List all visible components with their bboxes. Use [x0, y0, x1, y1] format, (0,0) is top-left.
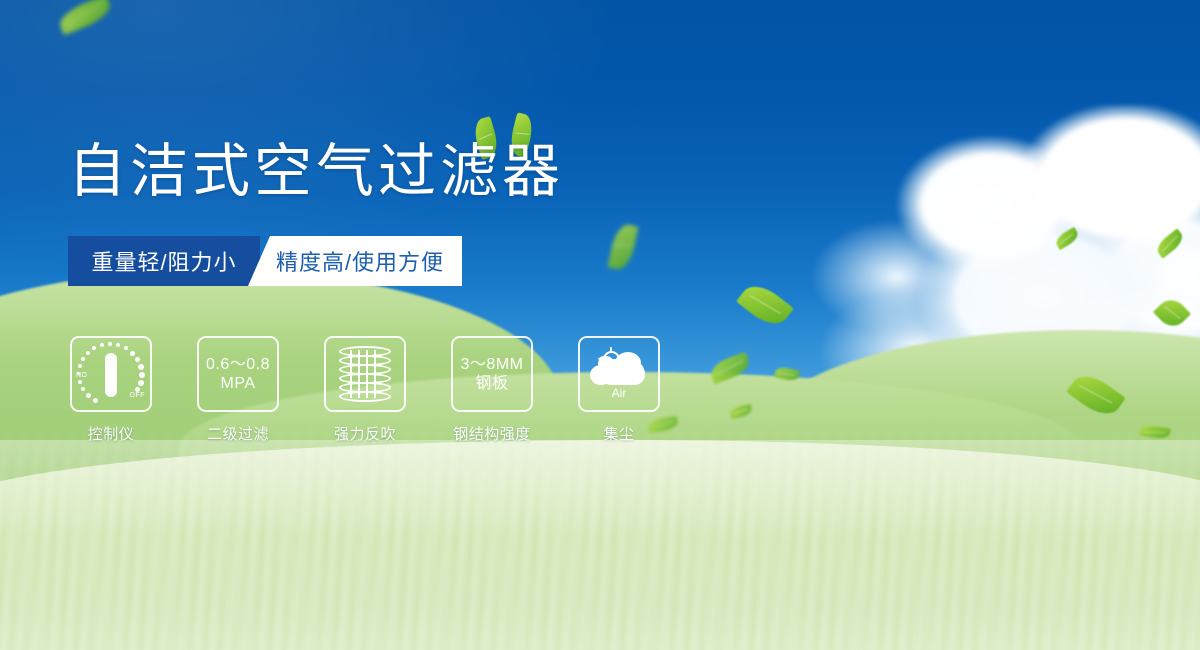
feature-list: NO OFF 控制仪 0.6～0.8 MPA 二级过滤	[68, 336, 662, 444]
feature-icon-box	[324, 336, 406, 412]
feature-text-line-2: MPA	[206, 374, 270, 393]
gauge-label-no: NO	[76, 372, 88, 379]
feature-text-line-1: 3～8MM	[461, 355, 524, 374]
feature-item-steel[interactable]: 3～8MM 钢板 钢结构强度	[449, 336, 535, 444]
feature-label: 集尘	[603, 423, 634, 444]
subtitle-left-segment: 重量轻/阻力小	[68, 236, 260, 286]
feature-icon-box: Air	[578, 336, 660, 412]
grass-haze	[0, 440, 1200, 650]
cloud-icon-text: Air	[589, 386, 649, 400]
feature-item-dust[interactable]: Air 集尘	[576, 336, 662, 444]
feature-icon-box: 3～8MM 钢板	[451, 336, 533, 412]
feature-text-line-2: 钢板	[461, 374, 524, 393]
cloud-icon: Air	[589, 351, 649, 397]
gauge-needle	[105, 353, 117, 397]
feature-label: 钢结构强度	[453, 423, 531, 444]
feature-item-blowback[interactable]: 强力反吹	[322, 336, 408, 444]
subtitle-bar: 重量轻/阻力小 精度高/使用方便	[68, 236, 462, 286]
product-banner: 自洁式空气过滤器 重量轻/阻力小 精度高/使用方便	[0, 0, 1200, 650]
feature-icon-box: 0.6～0.8 MPA	[197, 336, 279, 412]
feature-label: 强力反吹	[334, 423, 396, 444]
feature-item-controller[interactable]: NO OFF 控制仪	[68, 336, 154, 444]
gauge-label-off: OFF	[130, 392, 146, 399]
subtitle-right-segment: 精度高/使用方便	[248, 236, 462, 286]
feature-icon-text: 3～8MM 钢板	[461, 355, 524, 393]
feature-item-filter[interactable]: 0.6～0.8 MPA 二级过滤	[195, 336, 281, 444]
feature-icon-box: NO OFF	[70, 336, 152, 412]
subtitle-right-text: 精度高/使用方便	[266, 245, 444, 277]
feature-label: 二级过滤	[207, 423, 269, 444]
feature-icon-text: 0.6～0.8 MPA	[206, 355, 270, 393]
feature-label: 控制仪	[88, 423, 135, 444]
feature-text-line-1: 0.6～0.8	[206, 355, 270, 374]
page-title: 自洁式空气过滤器	[68, 143, 564, 201]
subtitle-left-text: 重量轻/阻力小	[91, 245, 236, 277]
coil-icon	[339, 346, 391, 402]
gauge-icon: NO OFF	[75, 341, 147, 407]
